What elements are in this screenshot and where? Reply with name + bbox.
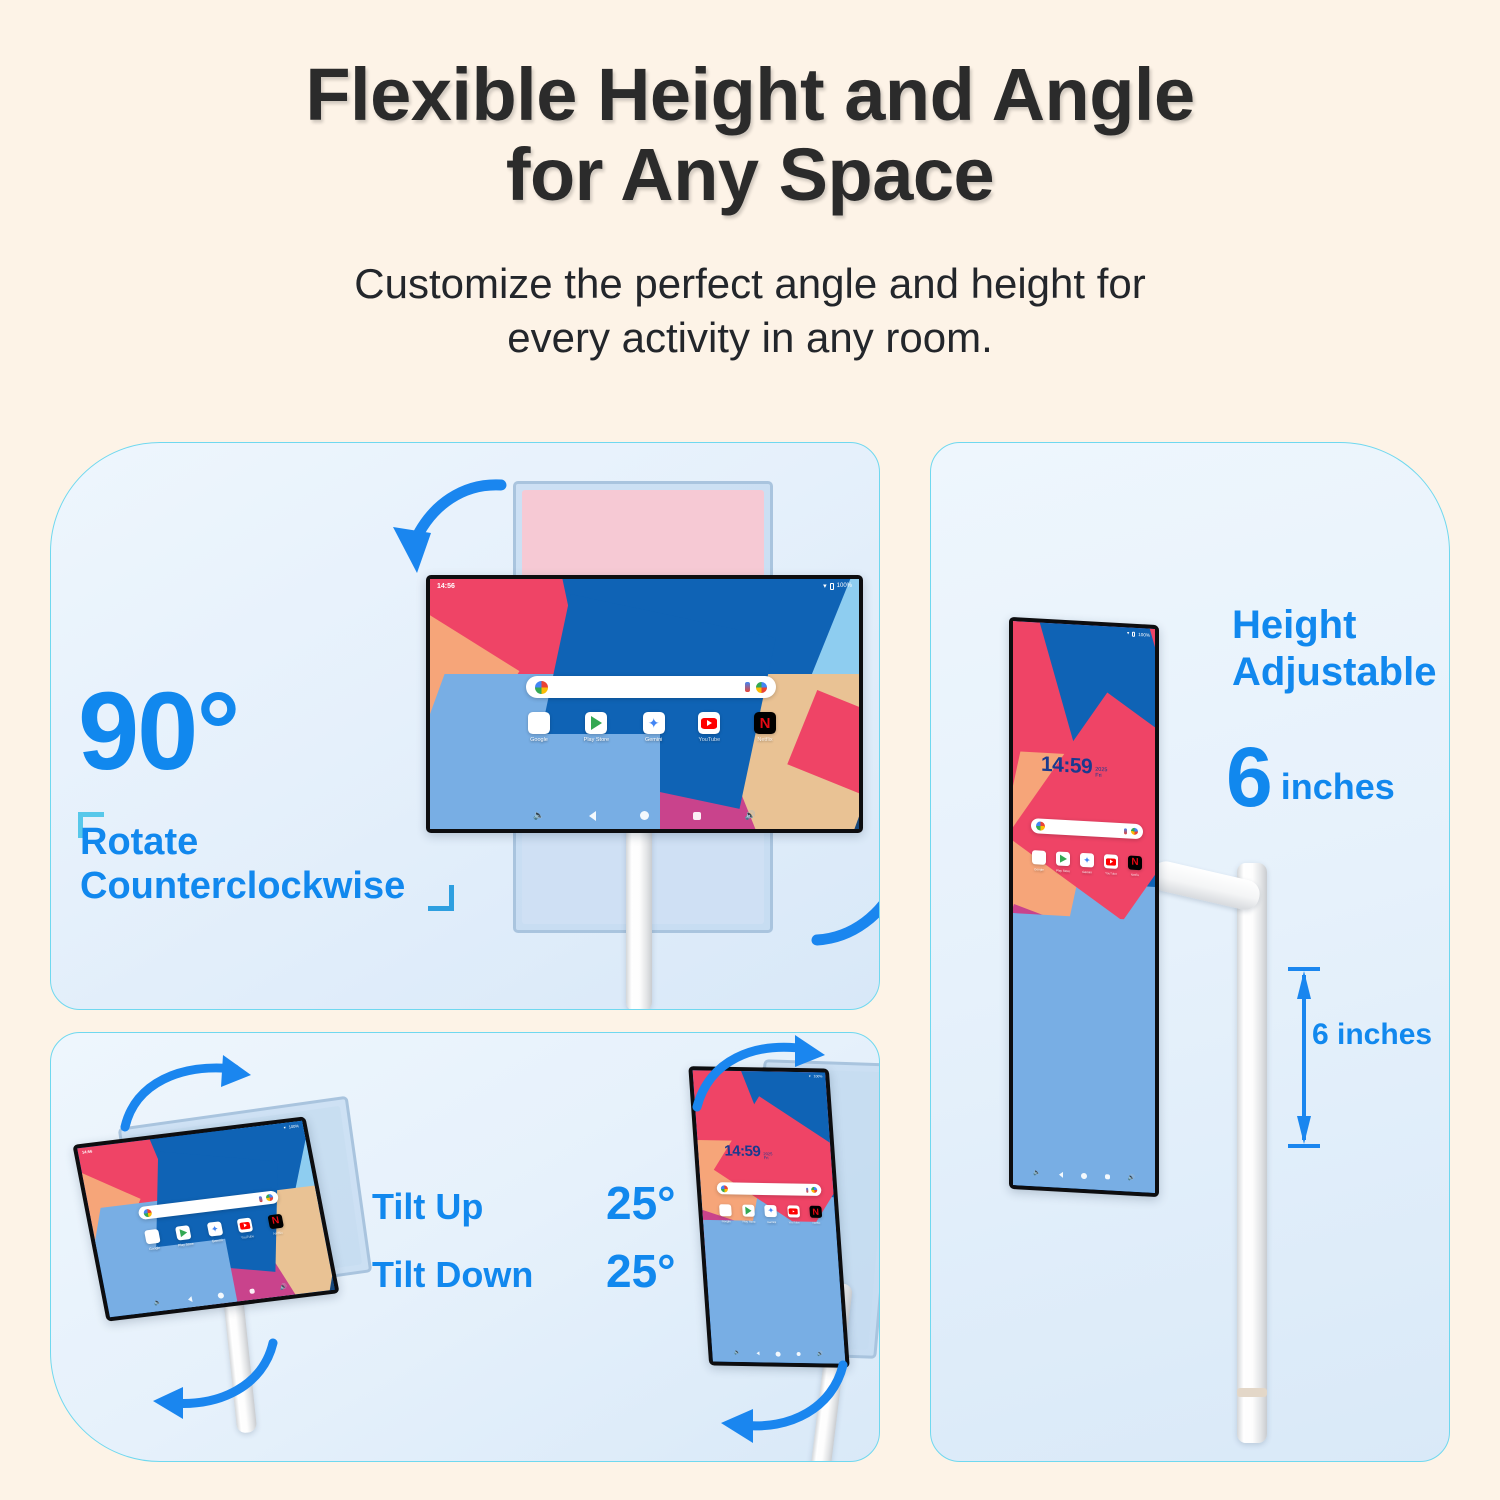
microphone-icon[interactable] [806, 1187, 809, 1192]
app-label: Netflix [812, 1221, 820, 1225]
netflix-icon[interactable]: N [1128, 855, 1142, 870]
tablet-screen: 14:56 ▾ 100% [430, 579, 859, 829]
volume-up-icon[interactable]: 🔊 [279, 1283, 288, 1291]
play-store-icon[interactable] [175, 1225, 192, 1240]
height-unit: inches [1281, 766, 1395, 816]
tilt-down-value: 25° [606, 1244, 676, 1298]
app-play-store[interactable]: Play Store [175, 1225, 195, 1248]
battery-percent: 100% [288, 1123, 299, 1129]
google-g-icon [143, 1208, 152, 1217]
tablet-portrait: ▾ 100% 14:59 2025 Fri [1009, 617, 1159, 1197]
status-bar: 14:56 ▾ 100% [430, 579, 859, 593]
volume-down-icon[interactable]: 🔈 [153, 1299, 162, 1307]
app-label: YouTube [788, 1220, 799, 1224]
volume-down-icon[interactable]: 🔈 [533, 810, 544, 821]
app-youtube[interactable]: YouTube [787, 1205, 800, 1224]
volume-up-icon[interactable]: 🔊 [1128, 1174, 1135, 1181]
height-title-line-1: Height [1232, 602, 1462, 649]
rotate-caption-line-2: Counterclockwise [80, 864, 480, 908]
tilt-arrow-up-right-icon [687, 1035, 827, 1115]
app-youtube[interactable]: YouTube [698, 712, 720, 743]
page-title: Flexible Height and Angle for Any Space [0, 0, 1500, 215]
netflix-icon[interactable]: N [754, 712, 776, 734]
app-google[interactable]: Google [719, 1204, 732, 1223]
tilt-down-label: Tilt Down [372, 1254, 584, 1296]
app-play-store[interactable]: Play Store [1056, 851, 1070, 873]
tablet-screen: ▾ 100% 14:59 2025 Fri [1013, 621, 1155, 1193]
app-label: Play Store [584, 737, 609, 743]
battery-percent: 100% [837, 583, 852, 589]
play-store-icon[interactable] [742, 1205, 755, 1217]
app-play-store[interactable]: Play Store [741, 1205, 755, 1224]
app-gemini[interactable]: ✦ Gemini [1080, 853, 1094, 875]
tablet-landscape: 14:56 ▾ 100% [426, 575, 863, 833]
microphone-icon[interactable] [1124, 828, 1127, 834]
tilt-row: Tilt Down 25° [372, 1244, 676, 1298]
home-icon[interactable] [1081, 1172, 1087, 1178]
recents-icon[interactable] [693, 812, 701, 820]
youtube-icon[interactable] [787, 1205, 800, 1217]
google-folder-icon[interactable] [1032, 850, 1046, 865]
app-google[interactable]: Google [1032, 850, 1046, 872]
app-netflix[interactable]: N Netflix [754, 712, 776, 743]
search-bar[interactable] [716, 1182, 821, 1196]
clock-meta-line-2: Fri [764, 1156, 773, 1160]
rotate-caption: Rotate Counterclockwise [80, 820, 480, 908]
app-label: Google [530, 737, 548, 743]
title-line-1: Flexible Height and Angle [0, 55, 1500, 135]
microphone-icon[interactable] [259, 1196, 263, 1202]
clock-meta: 2025 Fri [763, 1152, 773, 1161]
tilt-row: Tilt Up 25° [372, 1176, 676, 1230]
volume-down-icon[interactable]: 🔈 [1033, 1169, 1040, 1176]
rotate-arrow-up-icon [811, 848, 879, 958]
wallpaper [1013, 621, 1155, 1193]
height-measure-label: 6 inches [1312, 1018, 1432, 1052]
back-icon[interactable] [1059, 1171, 1063, 1177]
gemini-icon[interactable]: ✦ [1080, 853, 1094, 868]
clock-widget[interactable]: 14:59 2025 Fri [1041, 753, 1107, 781]
height-panel: ▾ 100% 14:59 2025 Fri [930, 442, 1450, 1462]
netflix-icon[interactable]: N [267, 1214, 284, 1229]
tilt-values: Tilt Up 25° Tilt Down 25° [372, 1176, 676, 1312]
recents-icon[interactable] [1105, 1174, 1110, 1179]
stand-pole-vertical [1237, 863, 1267, 1443]
clock-meta-line-2: Fri [1095, 774, 1107, 780]
app-label: Google [1034, 867, 1044, 872]
microphone-icon[interactable] [745, 682, 750, 692]
rotate-angle-value: 90° [78, 680, 238, 785]
height-panel-clip: ▾ 100% 14:59 2025 Fri [931, 443, 1449, 1461]
search-input[interactable] [731, 1188, 803, 1189]
app-label: Netflix [1131, 873, 1139, 877]
search-input[interactable] [1049, 827, 1120, 831]
app-netflix[interactable]: N Netflix [809, 1206, 822, 1225]
app-label: Play Store [1056, 868, 1070, 873]
app-label: YouTube [1105, 871, 1117, 876]
google-folder-icon[interactable] [528, 712, 550, 734]
height-measure-arrow-icon [1286, 965, 1322, 1150]
app-youtube[interactable]: YouTube [237, 1218, 255, 1240]
netflix-icon[interactable]: N [809, 1206, 822, 1218]
youtube-icon[interactable] [698, 712, 720, 734]
status-indicators: ▾ 100% [1127, 630, 1150, 637]
height-title: Height Adjustable [1232, 602, 1462, 696]
title-line-2: for Any Space [0, 135, 1500, 215]
google-g-icon [535, 681, 548, 694]
app-label: Gemini [645, 737, 662, 743]
app-label: Gemini [1082, 870, 1092, 875]
height-value-row: 6 inches [1226, 740, 1395, 816]
clock-time: 14:59 [724, 1142, 761, 1160]
recents-icon[interactable] [249, 1289, 255, 1295]
lens-icon[interactable] [1131, 828, 1138, 835]
back-icon[interactable] [187, 1296, 192, 1302]
google-g-icon [721, 1185, 729, 1192]
home-icon[interactable] [640, 811, 649, 820]
wifi-icon: ▾ [283, 1125, 286, 1130]
volume-up-icon[interactable]: 🔊 [745, 810, 756, 821]
tablet-tilted-left: 14:56 ▾ 100% [72, 1116, 339, 1321]
rotate-arrow-down-icon [373, 469, 503, 584]
status-time: 14:56 [437, 583, 455, 590]
tilt-up-label: Tilt Up [372, 1186, 584, 1228]
app-google[interactable]: Google [528, 712, 550, 743]
subtitle-line-2: every activity in any room. [0, 311, 1500, 365]
youtube-icon[interactable] [1104, 854, 1118, 869]
play-store-icon[interactable] [1056, 851, 1070, 866]
battery-icon [830, 583, 834, 590]
app-gemini[interactable]: ✦ Gemini [207, 1221, 225, 1243]
battery-percent: 100% [1138, 632, 1150, 638]
app-label: Gemini [767, 1220, 776, 1224]
lens-icon[interactable] [265, 1194, 273, 1202]
google-g-icon [1036, 821, 1045, 831]
page-subtitle: Customize the perfect angle and height f… [0, 215, 1500, 365]
subtitle-line-1: Customize the perfect angle and height f… [0, 257, 1500, 311]
gemini-icon[interactable]: ✦ [765, 1205, 778, 1217]
app-label: Netflix [757, 737, 772, 743]
tilt-arrow-down-right-icon [703, 1351, 853, 1446]
app-gemini[interactable]: ✦ Gemini [765, 1205, 778, 1224]
app-play-store[interactable]: Play Store [584, 712, 609, 743]
rotate-caption-line-1: Rotate [80, 820, 480, 864]
status-indicators: ▾ 100% [283, 1123, 299, 1130]
height-value: 6 [1226, 740, 1273, 816]
wallpaper [430, 579, 859, 829]
pole-ring [1237, 1388, 1267, 1397]
lens-icon[interactable] [811, 1187, 817, 1193]
app-label: Play Store [742, 1220, 755, 1224]
clock-meta: 2025 Fri [1095, 768, 1107, 780]
clock-widget[interactable]: 14:59 2025 Fri [724, 1142, 773, 1160]
search-bar[interactable] [526, 676, 776, 698]
tilt-up-value: 25° [606, 1176, 676, 1230]
status-time: 14:56 [82, 1149, 93, 1155]
play-store-icon[interactable] [585, 712, 607, 734]
app-google[interactable]: Google [144, 1229, 162, 1251]
app-gemini[interactable]: ✦ Gemini [643, 712, 665, 743]
clock-time: 14:59 [1041, 753, 1092, 780]
tilt-arrow-down-left-icon [137, 1333, 287, 1423]
wifi-icon: ▾ [823, 582, 827, 590]
wifi-icon: ▾ [1127, 630, 1129, 636]
app-row: Google Play Store ✦ Gemini [528, 712, 776, 743]
app-label: YouTube [699, 737, 721, 743]
back-icon[interactable] [589, 811, 596, 821]
bracket-bottom-right [428, 885, 454, 911]
google-folder-icon[interactable] [144, 1229, 161, 1244]
gemini-icon[interactable]: ✦ [207, 1221, 224, 1236]
app-netflix[interactable]: N Netflix [1128, 855, 1142, 877]
app-label: Google [722, 1219, 731, 1223]
google-folder-icon[interactable] [719, 1204, 732, 1216]
tilt-arrow-up-left-icon [111, 1053, 251, 1133]
status-indicators: ▾ 100% [823, 582, 852, 590]
youtube-icon[interactable] [237, 1218, 254, 1233]
gemini-icon[interactable]: ✦ [643, 712, 665, 734]
header: Flexible Height and Angle for Any Space … [0, 0, 1500, 364]
navigation-bar: 🔈 🔊 [430, 810, 859, 821]
tablet-screen: 14:56 ▾ 100% [77, 1121, 335, 1317]
app-youtube[interactable]: YouTube [1104, 854, 1118, 876]
height-title-line-2: Adjustable [1232, 649, 1462, 696]
lens-icon[interactable] [756, 682, 767, 693]
home-icon[interactable] [217, 1292, 224, 1299]
app-row: Google Play Store ✦ Gemini [719, 1204, 823, 1225]
battery-icon [1132, 631, 1135, 636]
